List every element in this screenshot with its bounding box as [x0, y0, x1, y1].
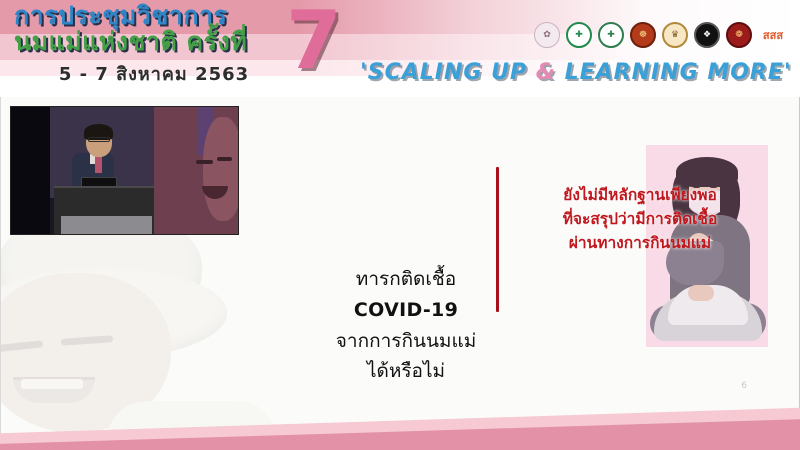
- question-line-4: ได้หรือไม่: [326, 356, 486, 387]
- tagline-ampersand: &: [536, 60, 556, 85]
- red-vertical-divider: [496, 167, 499, 312]
- conference-tagline: 'SCALING UP & LEARNING MORE': [360, 60, 792, 85]
- sponsor-logo-thai-breastfeeding-icon: ✿: [534, 22, 560, 48]
- question-line-1: ทารกติดเชื้อ: [326, 264, 486, 295]
- video-thumbnail[interactable]: [10, 106, 239, 235]
- edition-number: 7: [286, 0, 340, 87]
- sponsor-logo-strip: ✿ ✚ ✚ ☸ ♛ ❖ ❁ สสส: [534, 22, 788, 48]
- video-baby-panel: [154, 107, 238, 234]
- sponsor-logo-ministry-health-icon: ✚: [566, 22, 592, 48]
- tagline-prefix: 'SCALING UP: [360, 60, 536, 85]
- answer-line-1: ยังไม่มีหลักฐานเพียงพอ: [509, 183, 771, 207]
- video-baby-eye-right: [217, 157, 232, 161]
- video-dark-panel: [11, 107, 50, 234]
- illustration-mother-hand: [688, 285, 714, 301]
- conference-title: การประชุมวิชาการ นมแม่แห่งชาติ ครั้งที่ …: [14, 2, 294, 88]
- conference-title-line1: การประชุมวิชาการ: [14, 2, 294, 30]
- baby-watermark-photo: [0, 215, 257, 430]
- video-baby-eye-left: [196, 160, 213, 164]
- answer-line-2: ที่จะสรุปว่ามีการติดเชื้อ: [509, 207, 771, 231]
- sponsor-logo-department-health-icon: ✚: [598, 22, 624, 48]
- answer-line-3: ผ่านทางการกินนมแม่: [509, 231, 771, 255]
- slide-screenshot: 7 การประชุมวิชาการ นมแม่แห่งชาติ ครั้งที…: [0, 0, 800, 450]
- sponsor-logo-black-seal-icon: ❖: [694, 22, 720, 48]
- question-line-3: จากการกินนมแม่: [326, 326, 486, 357]
- conference-title-line2: นมแม่แห่งชาติ ครั้งที่: [14, 28, 294, 56]
- watermark-teeth: [21, 379, 83, 389]
- presentation-slide: ทารกติดเชื้อ COVID-19 จากการกินนมแม่ ได้…: [0, 97, 800, 450]
- sponsor-logo-thaihealth-icon: สสส: [758, 22, 788, 48]
- slide-answer-text: ยังไม่มีหลักฐานเพียงพอ ที่จะสรุปว่ามีการ…: [509, 183, 771, 255]
- conference-date: 5 - 7 สิงหาคม 2563: [14, 59, 294, 88]
- sponsor-logo-red-seal-icon: ❁: [726, 22, 752, 48]
- question-line-2: COVID-19: [326, 295, 486, 326]
- sponsor-logo-university-crest-icon: ♛: [662, 22, 688, 48]
- tagline-suffix: LEARNING MORE': [556, 60, 792, 85]
- slide-question-text: ทารกติดเชื้อ COVID-19 จากการกินนมแม่ ได้…: [326, 264, 486, 387]
- video-speaker-glasses-icon: [88, 137, 110, 142]
- video-baby-face: [203, 117, 239, 221]
- sponsor-logo-royal-emblem-icon: ☸: [630, 22, 656, 48]
- footer-pink-wedge: [0, 406, 800, 450]
- slide-number: 6: [741, 381, 747, 391]
- video-speaker-tie: [95, 155, 102, 173]
- video-podium-base: [61, 216, 152, 234]
- conference-banner: 7 การประชุมวิชาการ นมแม่แห่งชาติ ครั้งที…: [0, 0, 800, 97]
